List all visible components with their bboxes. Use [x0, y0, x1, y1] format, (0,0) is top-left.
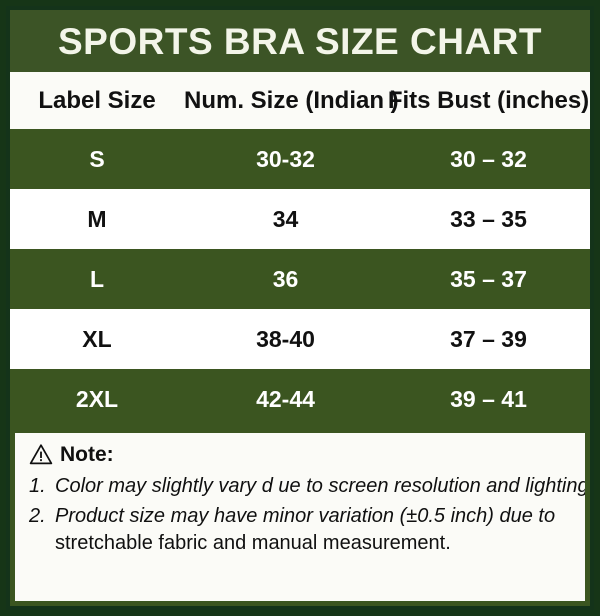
note-item-line-2: stretchable fabric and manual measuremen…: [55, 530, 585, 558]
column-header-num-size: Num. Size (Indian ): [184, 72, 387, 129]
table-row: L 36 35 – 37: [10, 249, 590, 309]
table-row: XL 38-40 37 – 39: [10, 309, 590, 369]
note-item-line-1: Product size may have minor variation (±…: [55, 503, 585, 531]
note-item-text: Color may slightly vary d ue to screen r…: [55, 473, 585, 501]
table-row: 2XL 42-44 39 – 41: [10, 369, 590, 429]
column-header-label-size: Label Size: [10, 72, 184, 129]
note-list: 1. Color may slightly vary d ue to scree…: [15, 469, 585, 560]
note-label: Note:: [60, 444, 114, 465]
size-chart-inner: SPORTS BRA SIZE CHART Label Size Num. Si…: [6, 6, 594, 610]
column-header-fits-bust: Fits Bust (inches): [387, 72, 590, 129]
cell-fits-bust: 30 – 32: [387, 129, 590, 189]
cell-fits-bust: 35 – 37: [387, 249, 590, 309]
cell-label-size: S: [10, 129, 184, 189]
note-item-number: 1.: [29, 473, 55, 501]
cell-num-size: 34: [184, 189, 387, 249]
cell-num-size: 30-32: [184, 129, 387, 189]
cell-num-size: 38-40: [184, 309, 387, 369]
table-row: M 34 33 – 35: [10, 189, 590, 249]
table-header-row: Label Size Num. Size (Indian ) Fits Bust…: [10, 72, 590, 129]
list-item: 1. Color may slightly vary d ue to scree…: [15, 473, 585, 503]
cell-num-size: 36: [184, 249, 387, 309]
note-panel: Note: 1. Color may slightly vary d ue to…: [15, 433, 585, 601]
note-header: Note:: [15, 443, 585, 469]
cell-label-size: L: [10, 249, 184, 309]
note-item-text: Product size may have minor variation (±…: [55, 503, 585, 558]
list-item: 2. Product size may have minor variation…: [15, 503, 585, 560]
note-item-number: 2.: [29, 503, 55, 531]
cell-num-size: 42-44: [184, 369, 387, 429]
cell-fits-bust: 37 – 39: [387, 309, 590, 369]
page-title: SPORTS BRA SIZE CHART: [58, 23, 542, 60]
chart-title-bar: SPORTS BRA SIZE CHART: [10, 10, 590, 72]
cell-fits-bust: 33 – 35: [387, 189, 590, 249]
warning-triangle-icon: [29, 443, 53, 465]
cell-label-size: XL: [10, 309, 184, 369]
cell-fits-bust: 39 – 41: [387, 369, 590, 429]
table-row: S 30-32 30 – 32: [10, 129, 590, 189]
note-item-line-1: Color may slightly vary d ue to screen r…: [55, 473, 585, 501]
size-chart-table: Label Size Num. Size (Indian ) Fits Bust…: [10, 72, 590, 429]
cell-label-size: M: [10, 189, 184, 249]
cell-label-size: 2XL: [10, 369, 184, 429]
size-chart-card: SPORTS BRA SIZE CHART Label Size Num. Si…: [0, 0, 600, 616]
